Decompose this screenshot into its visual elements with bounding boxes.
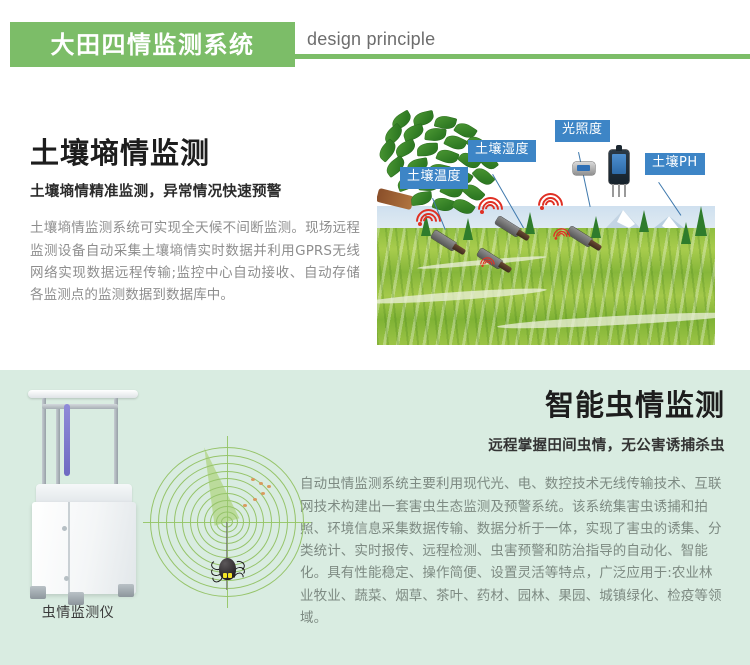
pest-monitoring-section: 智能虫情监测 远程掌握田间虫情，无公害诱捕杀虫 自动虫情监测系统主要利用现代光、… <box>0 370 750 665</box>
label-soil-temperature-text: 土壤温度 <box>407 169 461 184</box>
leaf <box>417 143 438 157</box>
spider-icon <box>210 554 244 584</box>
wifi-signal-icon <box>551 226 569 244</box>
leaf <box>424 127 446 142</box>
device-caption: 虫情监测仪 <box>18 602 138 622</box>
page-root: 大田四情监测系统 design principle 土壤墒情监测 土壤墒情精准监… <box>0 0 750 665</box>
radar-target-dot <box>251 478 255 481</box>
label-soil-humidity: 土壤湿度 <box>468 140 536 162</box>
radar-target-dot <box>243 504 247 507</box>
device-support-post <box>114 398 118 490</box>
leaf <box>393 138 417 158</box>
pest-section-body: 自动虫情监测系统主要利用现代光、电、数控技术无线传输技术、互联网技术构建出一套害… <box>300 473 725 629</box>
pest-section-subtitle: 远程掌握田间虫情，无公害诱捕杀虫 <box>300 438 725 455</box>
conifer-tree <box>591 216 601 238</box>
label-soil-ph: 土壤PH <box>645 153 705 175</box>
header-title-text: 大田四情监测系统 <box>51 33 255 57</box>
leaf <box>402 123 426 142</box>
soil-section-body: 土壤墒情监测系统可实现全天候不间断监测。现场远程监测设备自动采集土壤墒情实时数据… <box>30 217 360 306</box>
soil-text-block: 土壤墒情监测 土壤墒情精准监测，异常情况快速预警 土壤墒情监测系统可实现全天候不… <box>30 138 360 306</box>
ph-prong <box>624 184 626 197</box>
tree-trunk <box>377 188 414 210</box>
ph-meter-device <box>609 150 629 184</box>
soil-monitoring-section: 土壤墒情监测 土壤墒情精准监测，异常情况快速预警 土壤墒情监测系统可实现全天候不… <box>0 90 750 370</box>
device-cabinet <box>32 502 136 594</box>
wifi-dot <box>480 210 484 214</box>
wifi-dot <box>540 206 544 210</box>
device-support-post <box>56 408 60 488</box>
wifi-dot <box>418 222 422 226</box>
radar-target-dot <box>261 492 265 495</box>
conifer-tree <box>463 218 473 240</box>
soil-field-illustration: 土壤温度 土壤湿度 光照度 土壤PH <box>377 110 715 345</box>
label-illuminance-text: 光照度 <box>562 122 603 137</box>
page-header: 大田四情监测系统 design principle <box>0 0 750 90</box>
header-title-badge: 大田四情监测系统 <box>10 22 295 67</box>
device-foot <box>30 586 46 599</box>
radar-target-dot <box>267 485 271 488</box>
pest-text-block: 智能虫情监测 远程掌握田间虫情，无公害诱捕杀虫 自动虫情监测系统主要利用现代光、… <box>300 390 725 629</box>
spider-eye <box>228 573 232 578</box>
conifer-tree <box>525 212 535 234</box>
spider-eye <box>223 573 227 578</box>
radar-target-dot <box>259 482 263 485</box>
label-illuminance: 光照度 <box>555 120 610 142</box>
insect-monitor-device-photo <box>22 378 150 598</box>
device-crossbar <box>42 404 118 409</box>
wifi-dot <box>481 265 483 267</box>
wifi-signal-icon <box>535 190 561 216</box>
pest-radar-graphic <box>143 436 311 608</box>
header-subtitle: design principle <box>307 29 435 50</box>
wifi-signal-icon <box>478 255 493 270</box>
conifer-tree <box>695 206 707 236</box>
device-foot <box>118 584 134 597</box>
label-soil-humidity-text: 土壤湿度 <box>475 142 529 157</box>
pest-section-title: 智能虫情监测 <box>300 390 725 422</box>
wifi-signal-icon <box>413 206 439 232</box>
device-uv-lamp <box>64 404 70 476</box>
leaf <box>410 191 432 206</box>
label-soil-temperature: 土壤温度 <box>400 167 468 189</box>
conifer-tree <box>681 222 691 244</box>
device-support-post <box>42 398 46 490</box>
ph-prong <box>618 184 620 197</box>
radar-target-dot <box>253 498 257 501</box>
label-soil-ph-text: 土壤PH <box>652 155 698 170</box>
light-sensor-device <box>573 162 595 175</box>
ph-prong <box>612 184 614 197</box>
soil-section-subtitle: 土壤墒情精准监测，异常情况快速预警 <box>30 184 360 201</box>
device-rain-cover <box>28 390 138 398</box>
soil-section-title: 土壤墒情监测 <box>30 138 360 170</box>
wifi-signal-icon <box>475 194 501 220</box>
device-door-handle <box>64 576 69 581</box>
conifer-tree <box>639 210 649 232</box>
device-door-handle <box>62 526 67 531</box>
wifi-dot <box>555 237 558 240</box>
